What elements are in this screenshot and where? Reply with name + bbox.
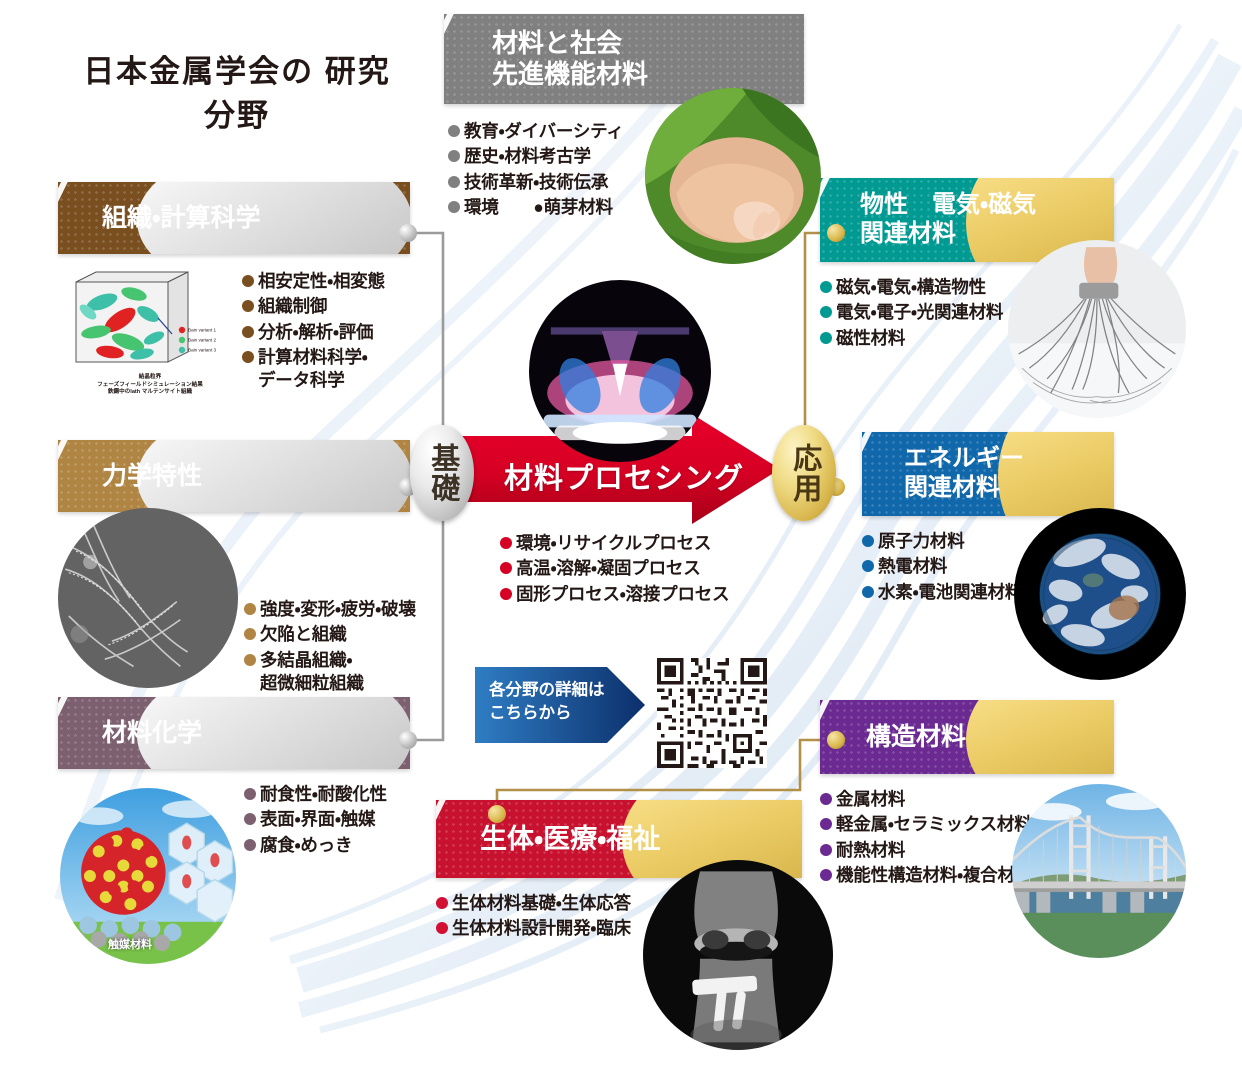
- bullet-dot: [862, 535, 874, 547]
- card-physics-title: 物性 電気・磁気 関連材料: [860, 191, 1036, 249]
- photo-hand-leaf-art: [645, 88, 821, 264]
- card-mechanical-header: 力学特性: [58, 440, 410, 512]
- qr-label-text: 各分野の詳細は こちらから: [489, 679, 605, 726]
- oval-basic-label: 基礎: [427, 443, 457, 503]
- bullet-dot: [500, 537, 512, 549]
- connector-knob-chemistry: [399, 731, 417, 749]
- bullet-dot: [436, 922, 448, 934]
- list-item: 相安定性・相変態: [242, 270, 422, 293]
- photo-earth-art: [1014, 508, 1186, 680]
- card-structure-bullets: 相安定性・相変態 組織制御 分析・解析・評価 計算材料科学・ データ科学: [242, 270, 422, 392]
- bullet-text: 機能性構造材料・複合材料: [836, 864, 1032, 887]
- photo-xray-art: [643, 860, 833, 1050]
- bullet-text: 技術革新・技術伝承: [464, 171, 608, 194]
- qr-code-art[interactable]: [657, 658, 767, 768]
- bullet-text: 多結晶組織・ 超微細粒組織: [260, 649, 364, 696]
- bullet-text: 固形プロセス・溶接プロセス: [516, 583, 729, 606]
- bullet-text: 耐食性・耐酸化性: [260, 783, 387, 806]
- bullet-text: 原子力材料: [878, 530, 965, 553]
- bullet-dot: [244, 788, 256, 800]
- card-biomedical-title: 生体・医療・福祉: [480, 823, 660, 855]
- bullet-text: 強度・変形・疲労・破壊: [260, 598, 416, 621]
- bullet-dot: [244, 628, 256, 640]
- photo-hand-leaf: [645, 88, 821, 264]
- photo-earth: [1014, 508, 1186, 680]
- list-item: 欠陥と組織: [244, 623, 434, 646]
- bullet-text: 表面・界面・触媒: [260, 808, 375, 831]
- photo-dislocation-micrograph: [58, 508, 238, 688]
- bullet-text: 磁性材料: [836, 327, 905, 350]
- bullet-dot: [820, 332, 832, 344]
- list-item: 環境・リサイクルプロセス: [500, 532, 780, 555]
- phasefield-cube-art: Bain variant 1 Bain variant 2 Bain varia…: [62, 268, 240, 378]
- bullet-text: 相安定性・相変態: [258, 270, 385, 293]
- card-chemistry-title: 材料化学: [102, 718, 202, 748]
- bullet-dot: [862, 560, 874, 572]
- bullet-text: 計算材料科学・ データ科学: [258, 346, 368, 393]
- bullet-dot: [500, 562, 512, 574]
- bullet-dot: [242, 351, 254, 363]
- bullet-dot: [244, 654, 256, 666]
- bullet-text: 生体材料基礎・生体応答: [452, 892, 631, 915]
- card-structural-header: 構造材料: [820, 700, 1114, 774]
- oval-applied-label: 応用: [789, 443, 819, 503]
- bullet-text: 環境・リサイクルプロセス: [516, 532, 711, 555]
- bullet-text: 磁気・電気・構造物性: [836, 276, 986, 299]
- bullet-dot: [242, 275, 254, 287]
- bullet-dot: [820, 281, 832, 293]
- svg-text:Bain variant 1: Bain variant 1: [188, 328, 217, 333]
- bullet-dot: [820, 869, 832, 881]
- bullet-dot: [244, 603, 256, 615]
- photo-plasma-art: [529, 280, 711, 462]
- image-phasefield-simulation: Bain variant 1 Bain variant 2 Bain varia…: [62, 268, 240, 378]
- card-energy-title: エネルギー 関連材料: [904, 445, 1024, 503]
- bullet-text: 生体材料設計開発・臨床: [452, 917, 631, 940]
- bullet-text: 組織制御: [258, 295, 327, 318]
- photo-plasma-processing: [529, 280, 711, 462]
- list-item: 表面・界面・触媒: [244, 808, 424, 831]
- bullet-text: 金属材料: [836, 788, 905, 811]
- bullet-text: 熱電材料: [878, 555, 947, 578]
- bullet-text: 欠陥と組織: [260, 623, 347, 646]
- photo-knee-xray: [643, 860, 833, 1050]
- connector-knob-physics: [827, 224, 845, 242]
- photo-catalyst-caption: 触媒材料: [108, 936, 152, 952]
- card-structure-header: 組織・計算科学: [58, 182, 410, 254]
- phasefield-caption: 結晶粒界 フェーズフィールドシミュレーション結果 鉄鋼中のlath マルテンサイ…: [60, 374, 240, 397]
- bullet-dot: [448, 150, 460, 162]
- bullet-text: 水素・電池関連材料: [878, 581, 1022, 604]
- card-energy-header: エネルギー 関連材料: [862, 432, 1114, 516]
- photo-suspension-bridge: [1012, 784, 1186, 958]
- bullet-dot: [448, 176, 460, 188]
- card-society-title: 材料と社会 先進機能材料: [492, 28, 648, 90]
- connector-knob-structure: [399, 224, 417, 242]
- photo-magnet-art: [1008, 240, 1186, 418]
- qr-code[interactable]: [657, 658, 767, 768]
- connector-knob-biomedical: [488, 805, 506, 823]
- photo-bridge-art: [1012, 784, 1186, 958]
- bullet-text: 歴史・材料考古学: [464, 145, 591, 168]
- bullet-text: 教育・ダイバーシティ: [464, 120, 624, 143]
- bullet-dot: [436, 897, 448, 909]
- bullet-dot: [820, 844, 832, 856]
- bullet-text: 環境 ●萌芽材料: [464, 196, 613, 219]
- bullet-text: 腐食・めっき: [260, 834, 352, 857]
- bullet-dot: [448, 201, 460, 213]
- bullet-dot: [244, 839, 256, 851]
- list-item: 耐食性・耐酸化性: [244, 783, 424, 806]
- bullet-text: 電気・電子・光関連材料: [836, 301, 1003, 324]
- bullet-dot: [500, 588, 512, 600]
- list-item: 計算材料科学・ データ科学: [242, 346, 422, 393]
- card-chemistry-header: 材料化学: [58, 697, 410, 769]
- bullet-dot: [448, 125, 460, 137]
- list-item: 組織制御: [242, 295, 422, 318]
- infographic-root: 日本金属学会の 研究分野 材料と社会 先進機能材料 教育・ダイバーシテ: [0, 0, 1242, 1072]
- list-item: 分析・解析・評価: [242, 321, 422, 344]
- photo-magnet-fibers: [1008, 240, 1186, 418]
- bullet-text: 耐熱材料: [836, 839, 905, 862]
- bullet-dot: [242, 326, 254, 338]
- bullet-dot: [862, 586, 874, 598]
- bullet-dot: [242, 300, 254, 312]
- processing-arrow-label: 材料プロセシング: [504, 455, 744, 497]
- oval-applied: 応用: [772, 425, 836, 521]
- bullet-dot: [820, 306, 832, 318]
- connector-knob-structural: [827, 731, 845, 749]
- bullet-dot: [820, 818, 832, 830]
- list-item: 固形プロセス・溶接プロセス: [500, 583, 780, 606]
- card-chemistry-bullets: 耐食性・耐酸化性 表面・界面・触媒 腐食・めっき: [244, 783, 424, 857]
- bullet-dot: [820, 793, 832, 805]
- list-item: 多結晶組織・ 超微細粒組織: [244, 649, 434, 696]
- svg-text:Bain variant 2: Bain variant 2: [188, 338, 217, 343]
- bullet-dot: [244, 813, 256, 825]
- page-title: 日本金属学会の 研究分野: [72, 50, 402, 138]
- processing-bullets: 環境・リサイクルプロセス 高温・溶解・凝固プロセス 固形プロセス・溶接プロセス: [500, 532, 780, 608]
- card-structural-title: 構造材料: [866, 722, 966, 752]
- bullet-text: 軽金属・セラミックス材料: [836, 813, 1032, 836]
- list-item: 腐食・めっき: [244, 834, 424, 857]
- svg-text:Bain variant 3: Bain variant 3: [188, 348, 217, 353]
- bullet-text: 高温・溶解・凝固プロセス: [516, 557, 701, 580]
- oval-basic: 基礎: [410, 425, 474, 521]
- card-mechanical-title: 力学特性: [102, 461, 202, 491]
- photo-dislocation-art: [58, 508, 238, 688]
- qr-label-text-wrap: 各分野の詳細は こちらから: [475, 667, 645, 743]
- header-swoop-accent: [966, 700, 1114, 774]
- list-item: 強度・変形・疲労・破壊: [244, 598, 434, 621]
- card-structure-title: 組織・計算科学: [102, 203, 261, 233]
- bullet-text: 分析・解析・評価: [258, 321, 373, 344]
- list-item: 高温・溶解・凝固プロセス: [500, 557, 780, 580]
